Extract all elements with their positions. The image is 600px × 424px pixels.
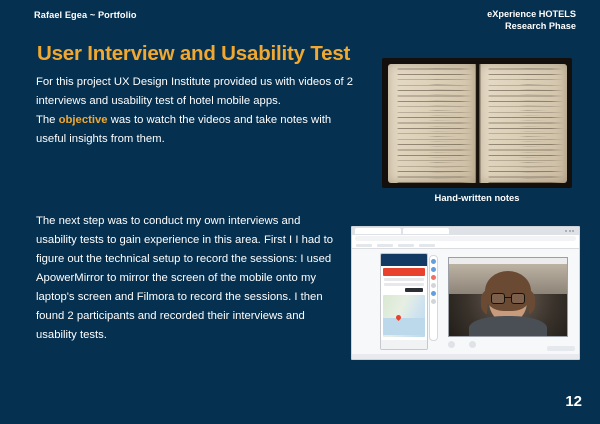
bookmark-item xyxy=(419,244,435,247)
screen-recording-photo xyxy=(351,226,580,360)
window-dot xyxy=(565,230,567,232)
notebook-spine xyxy=(475,64,480,183)
control-button-icon xyxy=(469,341,476,348)
mirroring-tool-palette xyxy=(429,255,438,341)
map-pin-icon xyxy=(395,314,402,321)
tool-icon xyxy=(431,283,436,288)
participant-glasses xyxy=(491,293,525,304)
window-controls xyxy=(565,230,574,232)
open-notebook-illustration xyxy=(388,64,567,183)
phone-app-header xyxy=(381,254,427,266)
browser-tab xyxy=(355,228,401,234)
bookmark-item xyxy=(356,244,372,247)
portfolio-byline: Rafael Egea ~ Portfolio xyxy=(34,10,137,20)
tool-icon xyxy=(431,291,436,296)
browser-tab-strip xyxy=(352,227,579,235)
window-dot xyxy=(572,230,574,232)
intro-sentence-1: For this project UX Design Institute pro… xyxy=(36,76,353,107)
tool-icon xyxy=(431,259,436,264)
tool-icon xyxy=(431,267,436,272)
phone-price-tag xyxy=(405,288,423,292)
project-phase: Research Phase xyxy=(487,21,576,33)
objective-highlight: objective xyxy=(59,114,108,126)
browser-address-bar xyxy=(352,235,579,242)
url-field xyxy=(355,236,576,241)
browser-tab xyxy=(403,228,449,234)
bookmark-item xyxy=(398,244,414,247)
objective-lead-in: The xyxy=(36,114,59,126)
process-paragraph: The next step was to conduct my own inte… xyxy=(36,212,336,345)
notebook-right-page xyxy=(479,64,567,183)
recording-canvas xyxy=(352,249,579,354)
phone-list-row xyxy=(384,283,424,286)
phone-bottom-bar xyxy=(381,340,427,350)
participant-torso xyxy=(469,316,547,336)
phone-banner xyxy=(383,268,425,276)
bookmark-item xyxy=(377,244,393,247)
bookmarks-bar xyxy=(352,242,579,249)
notebook-left-page xyxy=(388,64,476,183)
slide-canvas: Rafael Egea ~ Portfolio eXperience HOTEL… xyxy=(0,0,600,424)
project-name: eXperience HOTELS xyxy=(487,9,576,21)
watermark-badge xyxy=(547,346,575,351)
video-call-window xyxy=(448,257,568,337)
tool-icon xyxy=(431,299,436,304)
participant-hair xyxy=(485,271,531,311)
glasses-lens xyxy=(511,293,525,304)
handwritten-notes-photo xyxy=(382,58,572,188)
project-label: eXperience HOTELS Research Phase xyxy=(487,9,576,32)
phone-map-view xyxy=(383,295,425,337)
page-title: User Interview and Usability Test xyxy=(37,42,350,66)
notes-caption: Hand-written notes xyxy=(382,192,572,203)
control-button-icon xyxy=(448,341,455,348)
glasses-lens xyxy=(491,293,505,304)
mirrored-phone-screen xyxy=(380,253,428,350)
participant-video-feed xyxy=(449,264,567,336)
phone-list-row xyxy=(384,278,424,281)
record-icon xyxy=(431,275,436,280)
page-number: 12 xyxy=(565,393,582,410)
intro-paragraph: For this project UX Design Institute pro… xyxy=(36,73,354,149)
window-dot xyxy=(569,230,571,232)
video-controls xyxy=(448,341,476,348)
glasses-bridge xyxy=(505,297,512,299)
